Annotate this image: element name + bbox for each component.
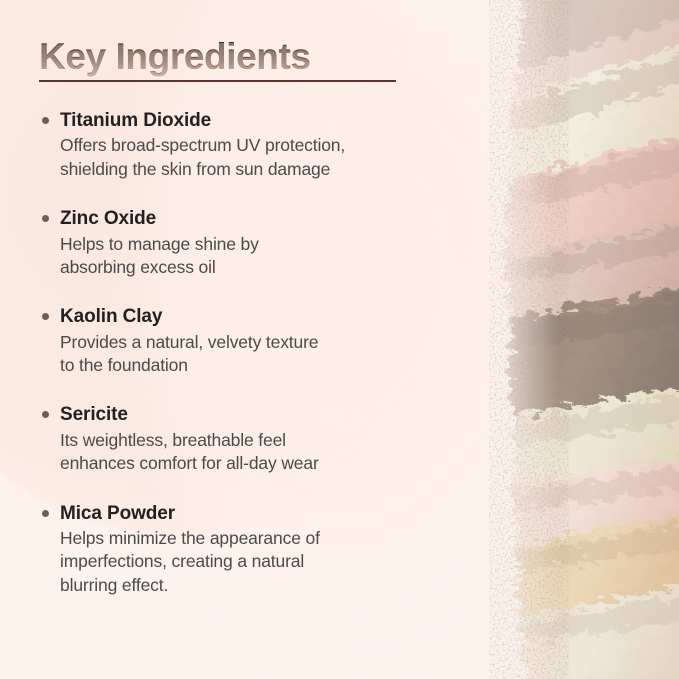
ingredient-description: Offers broad-spectrum UV protection, shi… (60, 134, 470, 181)
bullet-icon (42, 411, 49, 418)
title-underline (39, 80, 396, 82)
ingredient-description: Helps minimize the appearance of imperfe… (60, 527, 470, 597)
page-title: Key Ingredients (39, 38, 311, 77)
bullet-icon (42, 117, 49, 124)
bullet-icon (42, 313, 49, 320)
ingredients-infographic: Key Ingredients Titanium Dioxide Offers … (0, 0, 679, 679)
ingredient-name: Mica Powder (60, 501, 470, 527)
ingredient-name: Zinc Oxide (60, 206, 470, 232)
list-item: Sericite Its weightless, breathable feel… (39, 402, 470, 475)
list-item: Zinc Oxide Helps to manage shine by abso… (39, 206, 470, 279)
ingredient-description: Its weightless, breathable feel enhances… (60, 429, 470, 476)
ingredient-name: Sericite (60, 402, 470, 428)
bullet-icon (42, 215, 49, 222)
ingredient-name: Titanium Dioxide (60, 108, 470, 134)
ingredients-list: Titanium Dioxide Offers broad-spectrum U… (39, 108, 470, 597)
bullet-icon (42, 510, 49, 517)
ingredient-description: Helps to manage shine by absorbing exces… (60, 233, 470, 280)
list-item: Mica Powder Helps minimize the appearanc… (39, 501, 470, 597)
ingredient-name: Kaolin Clay (60, 304, 470, 330)
ingredient-description: Provides a natural, velvety texture to t… (60, 331, 470, 378)
text-column: Key Ingredients Titanium Dioxide Offers … (0, 0, 470, 679)
powder-swatch-image (489, 0, 679, 679)
list-item: Titanium Dioxide Offers broad-spectrum U… (39, 108, 470, 181)
list-item: Kaolin Clay Provides a natural, velvety … (39, 304, 470, 377)
